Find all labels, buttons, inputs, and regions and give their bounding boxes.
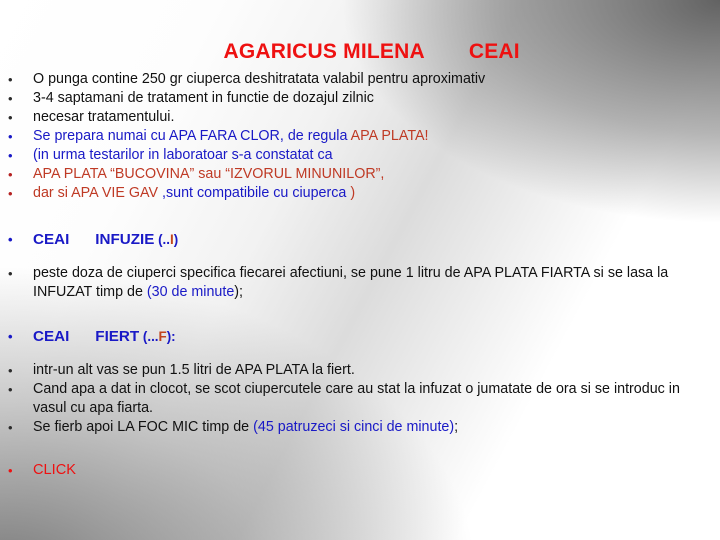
- bullet-line: •dar si APA VIE GAV ,sunt compatibile cu…: [0, 184, 720, 203]
- bullet-line: •necesar tratamentului.: [0, 108, 720, 127]
- bullet-marker: •: [8, 89, 20, 108]
- page-title-secondary: CEAI: [469, 40, 520, 63]
- bullet-text-segment: APA PLATA “BUCOVINA” sau “IZVORUL MINUNI…: [33, 166, 384, 182]
- heading-label-b: INFUZIE: [95, 231, 154, 248]
- bullet-line: •APA PLATA “BUCOVINA” sau “IZVORUL MINUN…: [0, 165, 720, 184]
- page-title-main: AGARICUS MILENA: [224, 40, 425, 63]
- bullet-line: • (in urma testarilor in laboratoar s-a …: [0, 146, 720, 165]
- bullet-text-segment: CLICK: [33, 462, 76, 478]
- heading-paren-letter: F: [159, 329, 167, 344]
- bullet-line: •O punga contine 250 gr ciuperca deshitr…: [0, 70, 720, 89]
- bullet-marker: •: [8, 184, 20, 203]
- click-block: •CLICK: [0, 461, 720, 480]
- bullet-marker: •: [8, 326, 20, 347]
- bullet-marker: •: [8, 165, 20, 184]
- bullet-text-segment: APA PLATA!: [351, 128, 429, 144]
- bullet-marker: •: [8, 361, 20, 380]
- bullet-marker: •: [8, 461, 20, 480]
- bullet-marker: •: [8, 229, 20, 250]
- heading-label-b: FIERT: [95, 328, 139, 345]
- bullet-content: •O punga contine 250 gr ciuperca deshitr…: [0, 70, 720, 480]
- bullet-marker: •: [8, 418, 20, 437]
- heading-paren-close: ): [174, 232, 178, 247]
- heading-paren-open: (...: [139, 329, 158, 344]
- spacer: [0, 250, 720, 264]
- fiert-block: •CEAIFIERT (...F):•intr-un alt vas se pu…: [0, 326, 720, 437]
- bullet-text-segment: dar si APA VIE GAV: [33, 185, 162, 201]
- bullet-text-segment: (in urma testarilor in laboratoar s-a co…: [33, 147, 333, 163]
- heading-label-a: CEAI: [33, 328, 69, 345]
- infuzie-block-heading: •CEAIINFUZIE (..I): [0, 229, 720, 250]
- intro-block: •O punga contine 250 gr ciuperca deshitr…: [0, 70, 720, 203]
- bullet-marker: •: [8, 146, 20, 165]
- bullet-text-segment: Se fierb apoi LA FOC MIC timp de: [33, 419, 253, 435]
- bullet-marker: •: [8, 380, 20, 399]
- bullet-line: •Cand apa a dat in clocot, se scot ciupe…: [0, 380, 720, 418]
- bullet-text-segment: intr-un alt vas se pun 1.5 litri de APA …: [33, 362, 355, 378]
- bullet-text-segment: necesar tratamentului.: [33, 109, 174, 125]
- block-spacer: [0, 302, 720, 326]
- infuzie-block: •CEAIINFUZIE (..I)•peste doza de ciuperc…: [0, 229, 720, 302]
- heading-label-a: CEAI: [33, 231, 69, 248]
- bullet-line: •CLICK: [0, 461, 720, 480]
- bullet-marker: •: [8, 127, 20, 146]
- bullet-text-segment: Cand apa a dat in clocot, se scot ciuper…: [33, 381, 680, 416]
- bullet-line: •intr-un alt vas se pun 1.5 litri de APA…: [0, 361, 720, 380]
- fiert-block-heading: •CEAIFIERT (...F):: [0, 326, 720, 347]
- spacer: [0, 347, 720, 361]
- heading-paren-open: (..: [154, 232, 170, 247]
- bullet-line: •Se fierb apoi LA FOC MIC timp de (45 pa…: [0, 418, 720, 437]
- bullet-text-segment: Se prepara numai cu APA FARA CLOR, de re…: [33, 128, 351, 144]
- bullet-text-segment: ;: [454, 419, 458, 435]
- bullet-text-segment: ,sunt compatibile cu ciuperca: [162, 185, 350, 201]
- bullet-line: •peste doza de ciuperci specifica fiecar…: [0, 264, 720, 302]
- block-spacer: [0, 203, 720, 229]
- block-spacer: [0, 437, 720, 461]
- bullet-text-segment: (30 de minute: [147, 284, 234, 300]
- bullet-text-segment: 3-4 saptamani de tratament in functie de…: [33, 90, 374, 106]
- bullet-marker: •: [8, 108, 20, 127]
- bullet-marker: •: [8, 70, 20, 89]
- bullet-text-segment: peste doza de ciuperci specifica fiecare…: [33, 265, 668, 300]
- bullet-text-segment: (45 patruzeci si cinci de minute): [253, 419, 454, 435]
- bullet-text-segment: ): [350, 185, 355, 201]
- bullet-text-segment: O punga contine 250 gr ciuperca deshitra…: [33, 71, 485, 87]
- bullet-marker: •: [8, 264, 20, 283]
- heading-paren-close: ):: [167, 329, 176, 344]
- bullet-line: •Se prepara numai cu APA FARA CLOR, de r…: [0, 127, 720, 146]
- slide-canvas: AGARICUS MILENACEAI •O punga contine 250…: [0, 0, 720, 540]
- bullet-text-segment: );: [234, 284, 243, 300]
- bullet-line: •3-4 saptamani de tratament in functie d…: [0, 89, 720, 108]
